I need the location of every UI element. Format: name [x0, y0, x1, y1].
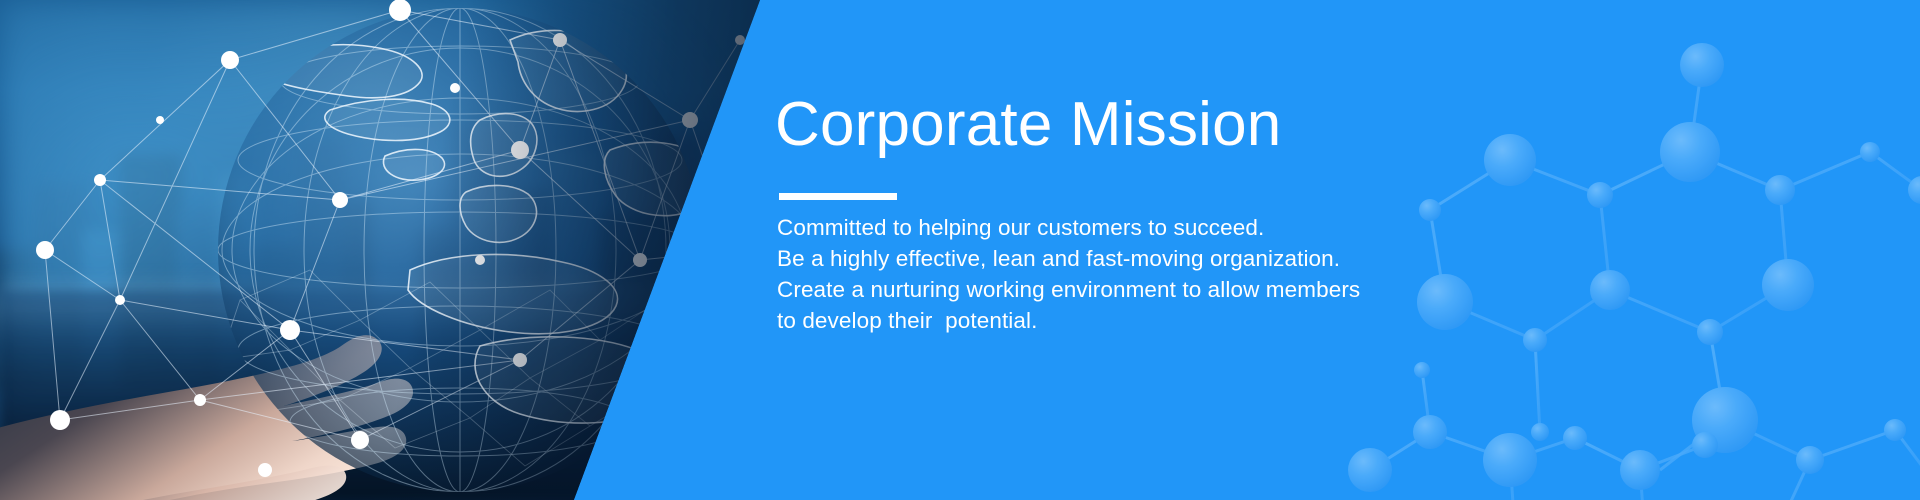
mission-line: Committed to helping our customers to su… — [777, 212, 1397, 243]
mission-content-block: Corporate Mission Committed to helping o… — [775, 0, 1475, 500]
mission-line: Be a highly effective, lean and fast-mov… — [777, 243, 1397, 274]
mission-line: Create a nurturing working environment t… — [777, 274, 1397, 305]
title-divider-rule — [779, 193, 897, 200]
mission-line: to develop their potential. — [777, 305, 1397, 336]
mission-statement-text: Committed to helping our customers to su… — [777, 212, 1397, 336]
corporate-mission-banner: Corporate Mission Committed to helping o… — [0, 0, 1920, 500]
page-title: Corporate Mission — [775, 92, 1281, 157]
